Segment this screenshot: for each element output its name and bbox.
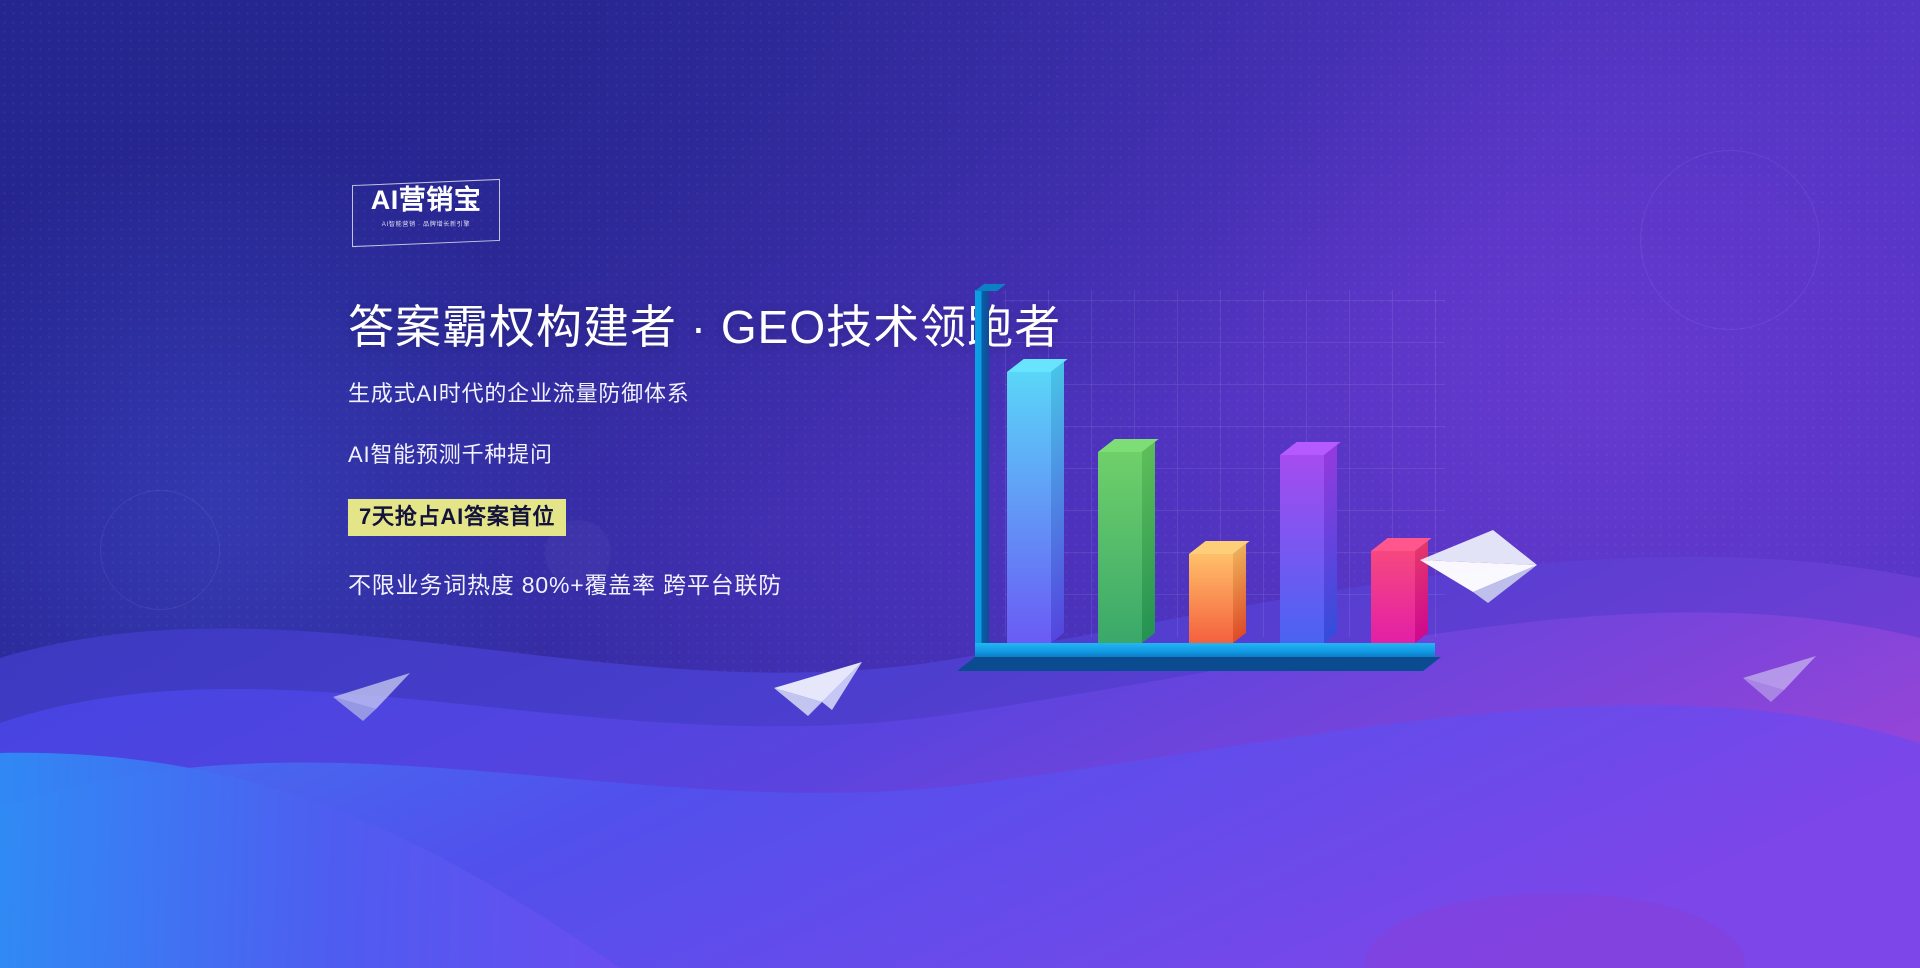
chart-bar: [1189, 554, 1233, 643]
copy-block: 答案霸权构建者 · GEO技术领跑者 生成式AI时代的企业流量防御体系 AI智能…: [348, 300, 1068, 600]
chart-bar-side: [1233, 544, 1246, 643]
bar-chart-illustration: [975, 290, 1445, 675]
chart-bar: [1371, 551, 1415, 643]
chart-bar: [1007, 372, 1051, 643]
chart-bar-side: [1142, 442, 1155, 643]
chart-bar-face: [1189, 554, 1233, 643]
chart-y-axis: [975, 290, 989, 645]
chart-bar: [1280, 455, 1324, 643]
subtitle-line-2: AI智能预测千种提问: [348, 437, 1068, 469]
chart-bar-face: [1280, 455, 1324, 643]
brand-logo[interactable]: AI营销宝 AI智能营销 · 品牌增长新引擎: [352, 182, 500, 244]
subtitle-line-1: 生成式AI时代的企业流量防御体系: [348, 376, 1068, 408]
decor-circle-3: [1640, 150, 1820, 330]
chart-bar-side: [1415, 541, 1428, 643]
logo-text: AI营销宝: [352, 186, 500, 214]
feature-line: 不限业务词热度 80%+覆盖率 跨平台联防: [348, 566, 1068, 600]
chart-floor-side: [957, 657, 1441, 671]
chart-floor: [975, 643, 1435, 657]
chart-bar-face: [1007, 372, 1051, 643]
hero-banner: AI营销宝 AI智能营销 · 品牌增长新引擎 答案霸权构建者 · GEO技术领跑…: [0, 0, 1920, 968]
chart-bar-face: [1098, 452, 1142, 643]
highlight-row: 7天抢占AI答案首位: [348, 499, 1068, 536]
chart-y-axis-cap: [975, 284, 1006, 291]
chart-bar-side: [1051, 362, 1064, 643]
paper-plane-icon-4: [1740, 650, 1820, 710]
paper-plane-icon-3: [330, 665, 415, 727]
chart-bar-side: [1324, 445, 1337, 643]
page-title: 答案霸权构建者 · GEO技术领跑者: [348, 300, 1068, 354]
paper-plane-icon-2: [770, 650, 865, 722]
chart-bar-face: [1371, 551, 1415, 643]
chart-bar: [1098, 452, 1142, 643]
logo-tagline: AI智能营销 · 品牌增长新引擎: [356, 218, 497, 228]
highlight-badge: 7天抢占AI答案首位: [348, 499, 566, 536]
decor-circle-1: [100, 490, 220, 610]
